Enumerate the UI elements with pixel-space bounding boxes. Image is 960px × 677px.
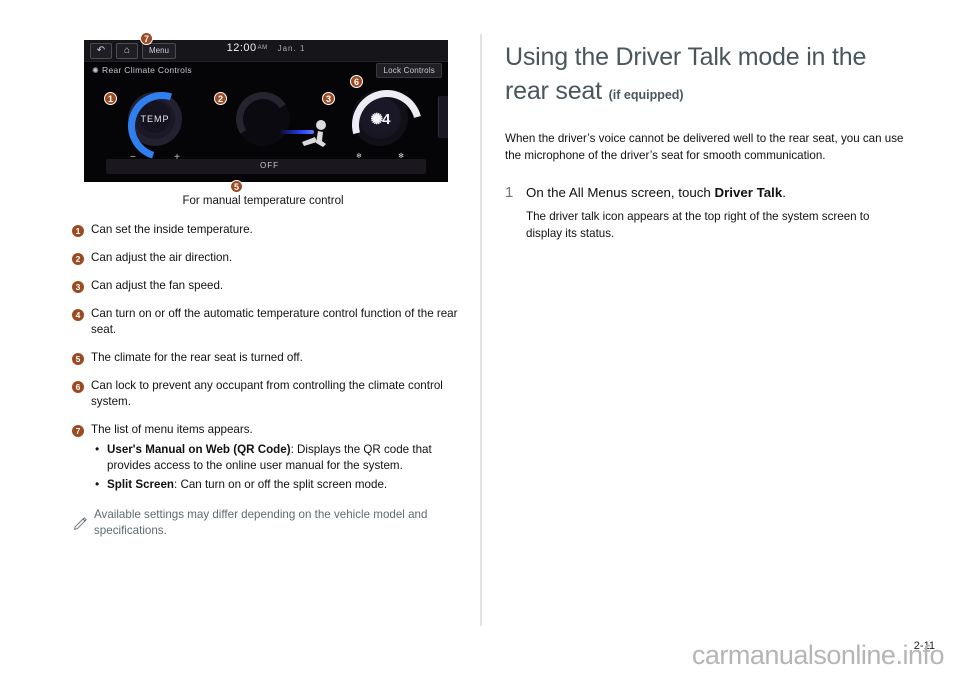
page-title-condition: (if equipped) xyxy=(609,88,684,102)
list-item-text: Can set the inside temperature. xyxy=(91,222,253,238)
rear-climate-title: ✺Rear Climate Controls xyxy=(92,65,192,75)
list-item-text-group: The list of menu items appears. User's M… xyxy=(91,422,458,493)
climate-off-bar[interactable]: OFF xyxy=(106,159,426,174)
clock-date: Jan. 1 xyxy=(278,44,306,53)
list-item: 7 The list of menu items appears. User's… xyxy=(68,422,458,493)
step-text: On the All Menus screen, touch Driver Ta… xyxy=(526,183,905,202)
callout-marker-3: 3 xyxy=(322,92,335,105)
rear-climate-title-label: Rear Climate Controls xyxy=(102,65,192,75)
fan-speed-value: ✺4 xyxy=(359,110,401,128)
lock-controls-button[interactable]: Lock Controls xyxy=(376,63,442,78)
list-item: 1 Can set the inside temperature. xyxy=(68,222,458,238)
list-item-number: 6 xyxy=(72,381,84,393)
callout-marker-2: 2 xyxy=(214,92,227,105)
list-item: 6 Can lock to prevent any occupant from … xyxy=(68,378,458,410)
sublist-item-title: User's Manual on Web (QR Code) xyxy=(107,443,291,456)
list-item-text: Can adjust the air direction. xyxy=(91,250,232,266)
head-unit-sub-bar: ✺Rear Climate Controls Lock Controls xyxy=(84,62,448,80)
sublist-item: Split Screen: Can turn on or off the spl… xyxy=(91,477,458,493)
fan-speed-dial[interactable]: ✺4 xyxy=(352,90,408,146)
list-item: 2 Can adjust the air direction. xyxy=(68,250,458,266)
temperature-dial[interactable]: TEMP xyxy=(128,92,182,146)
list-item-number: 4 xyxy=(72,309,84,321)
head-unit-screenshot: ↶ ⌂ Menu 12:00AMJan. 1 ✺Rear Climate Con… xyxy=(84,40,448,182)
list-item: 4 Can turn on or off the automatic tempe… xyxy=(68,306,458,338)
menu-items-sublist: User's Manual on Web (QR Code): Displays… xyxy=(91,442,458,493)
step-1: 1 On the All Menus screen, touch Driver … xyxy=(505,183,905,242)
list-item: 5 The climate for the rear seat is turne… xyxy=(68,350,458,366)
list-item-number: 7 xyxy=(72,425,84,437)
screen-right-edge-panel xyxy=(438,96,448,138)
step-body: On the All Menus screen, touch Driver Ta… xyxy=(526,183,905,242)
climate-off-label: OFF xyxy=(260,161,279,170)
list-item-text: Can lock to prevent any occupant from co… xyxy=(91,378,458,410)
callout-marker-6: 6 xyxy=(350,75,363,88)
pencil-icon xyxy=(72,509,88,539)
climate-fan-icon: ✺ xyxy=(92,66,99,75)
list-item-number: 3 xyxy=(72,281,84,293)
clock-ampm: AM xyxy=(258,45,268,51)
left-column: ↶ ⌂ Menu 12:00AMJan. 1 ✺Rear Climate Con… xyxy=(68,40,458,539)
clock-display: 12:00AMJan. 1 xyxy=(84,42,448,54)
page-title: Using the Driver Talk mode in the rear s… xyxy=(505,40,905,112)
note-text: Available settings may differ depending … xyxy=(94,507,458,539)
temperature-dial-label: TEMP xyxy=(135,114,175,124)
list-item-text: The climate for the rear seat is turned … xyxy=(91,350,303,366)
step-text-bold: Driver Talk xyxy=(714,185,782,200)
list-item-text: The list of menu items appears. xyxy=(91,423,253,436)
callout-description-list: 1 Can set the inside temperature. 2 Can … xyxy=(68,222,458,493)
note-block: Available settings may differ depending … xyxy=(68,507,458,539)
intro-paragraph: When the driver’s voice cannot be delive… xyxy=(505,130,905,164)
step-text-after: . xyxy=(782,185,786,200)
list-item-text: Can turn on or off the automatic tempera… xyxy=(91,306,458,338)
sublist-item: User's Manual on Web (QR Code): Displays… xyxy=(91,442,458,474)
seat-occupant-icon xyxy=(296,118,330,152)
air-direction-dial[interactable] xyxy=(231,87,295,151)
manual-page: ↶ ⌂ Menu 12:00AMJan. 1 ✺Rear Climate Con… xyxy=(0,0,960,677)
list-item-number: 5 xyxy=(72,353,84,365)
column-divider xyxy=(480,34,482,626)
right-column: Using the Driver Talk mode in the rear s… xyxy=(505,40,905,242)
list-item: 3 Can adjust the fan speed. xyxy=(68,278,458,294)
callout-marker-1: 1 xyxy=(104,92,117,105)
callout-marker-5: 5 xyxy=(230,180,243,193)
callout-marker-7: 7 xyxy=(140,32,153,45)
sublist-item-desc: : Can turn on or off the split screen mo… xyxy=(174,478,387,491)
step-text-before: On the All Menus screen, touch xyxy=(526,185,714,200)
list-item-number: 1 xyxy=(72,225,84,237)
page-title-main: Using the Driver Talk mode in the rear s… xyxy=(505,43,866,105)
step-number: 1 xyxy=(505,183,526,242)
watermark: carmanualsonline.info xyxy=(692,640,944,671)
step-description: The driver talk icon appears at the top … xyxy=(526,209,905,242)
list-item-text: Can adjust the fan speed. xyxy=(91,278,223,294)
clock-time: 12:00 xyxy=(227,42,257,54)
sublist-item-title: Split Screen xyxy=(107,478,174,491)
figure-caption: For manual temperature control xyxy=(68,195,458,207)
list-item-number: 2 xyxy=(72,253,84,265)
